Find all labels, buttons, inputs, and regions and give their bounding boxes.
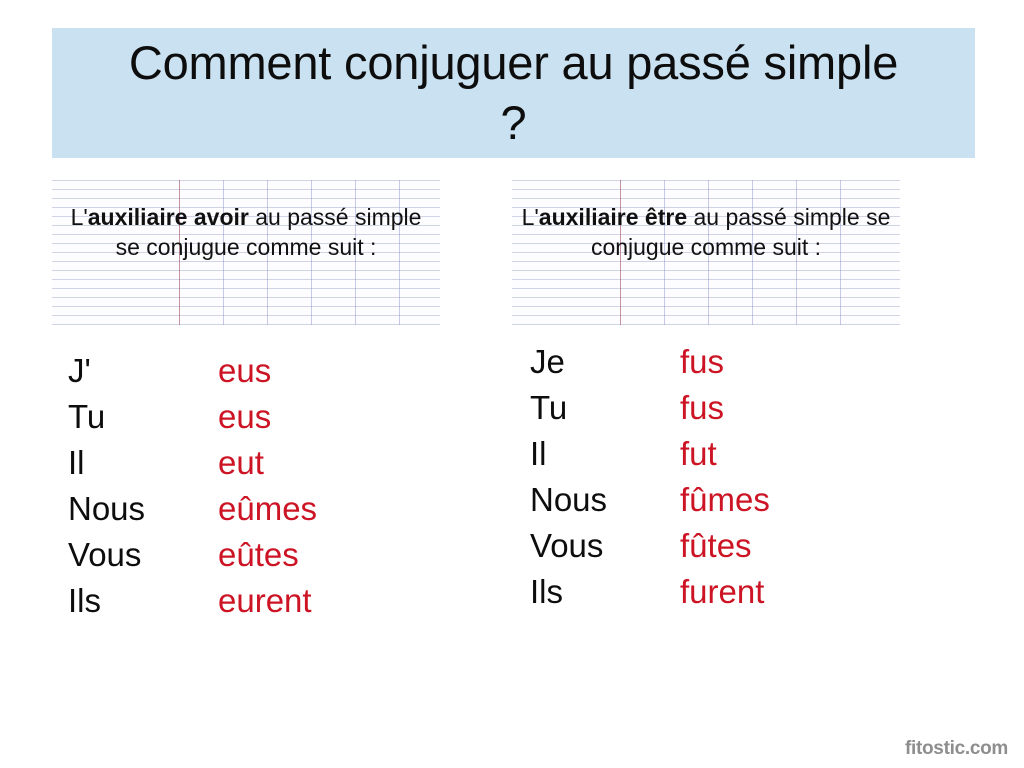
conjugation-row: Nous fûmes — [530, 481, 770, 527]
page-title: Comment conjuguer au passé simple ? — [114, 33, 914, 153]
pronoun: Tu — [530, 389, 680, 427]
pronoun: J' — [68, 352, 218, 390]
verb-form: eus — [218, 398, 271, 436]
verb-form: furent — [680, 573, 764, 611]
verb-form: eut — [218, 444, 264, 482]
caption-text-etre: L'auxiliaire être au passé simple se con… — [512, 180, 900, 262]
pronoun: Ils — [68, 582, 218, 620]
conjugation-row: Ils eurent — [68, 582, 317, 628]
verb-form: fus — [680, 389, 724, 427]
caption-panel-etre: L'auxiliaire être au passé simple se con… — [512, 180, 900, 325]
pronoun: Il — [68, 444, 218, 482]
title-banner: Comment conjuguer au passé simple ? — [52, 28, 975, 158]
pronoun: Tu — [68, 398, 218, 436]
conjugation-row: Il eut — [68, 444, 317, 490]
caption-lead: L' — [71, 204, 88, 230]
conjugation-row: Tu fus — [530, 389, 770, 435]
conjugation-table-etre: Je fus Tu fus Il fut Nous fûmes Vous fût… — [530, 343, 770, 619]
verb-form: eurent — [218, 582, 312, 620]
verb-form: eus — [218, 352, 271, 390]
caption-bold-term: auxiliaire être — [539, 204, 687, 230]
conjugation-row: Nous eûmes — [68, 490, 317, 536]
pronoun: Il — [530, 435, 680, 473]
verb-form: fus — [680, 343, 724, 381]
conjugation-row: Je fus — [530, 343, 770, 389]
pronoun: Nous — [68, 490, 218, 528]
verb-form: fûmes — [680, 481, 770, 519]
verb-form: fûtes — [680, 527, 752, 565]
caption-panel-avoir: L'auxiliaire avoir au passé simple se co… — [52, 180, 440, 325]
caption-lead: L' — [522, 204, 539, 230]
caption-bold-term: auxiliaire avoir — [88, 204, 249, 230]
pronoun: Vous — [68, 536, 218, 574]
pronoun: Nous — [530, 481, 680, 519]
conjugation-row: Ils furent — [530, 573, 770, 619]
conjugation-row: Vous eûtes — [68, 536, 317, 582]
verb-form: eûmes — [218, 490, 317, 528]
conjugation-row: Vous fûtes — [530, 527, 770, 573]
pronoun: Je — [530, 343, 680, 381]
conjugation-row: J' eus — [68, 352, 317, 398]
verb-form: fut — [680, 435, 717, 473]
verb-form: eûtes — [218, 536, 299, 574]
conjugation-row: Tu eus — [68, 398, 317, 444]
conjugation-row: Il fut — [530, 435, 770, 481]
pronoun: Ils — [530, 573, 680, 611]
caption-text-avoir: L'auxiliaire avoir au passé simple se co… — [52, 180, 440, 262]
pronoun: Vous — [530, 527, 680, 565]
conjugation-table-avoir: J' eus Tu eus Il eut Nous eûmes Vous eût… — [68, 352, 317, 628]
site-watermark: fitostic.com — [905, 738, 1008, 760]
